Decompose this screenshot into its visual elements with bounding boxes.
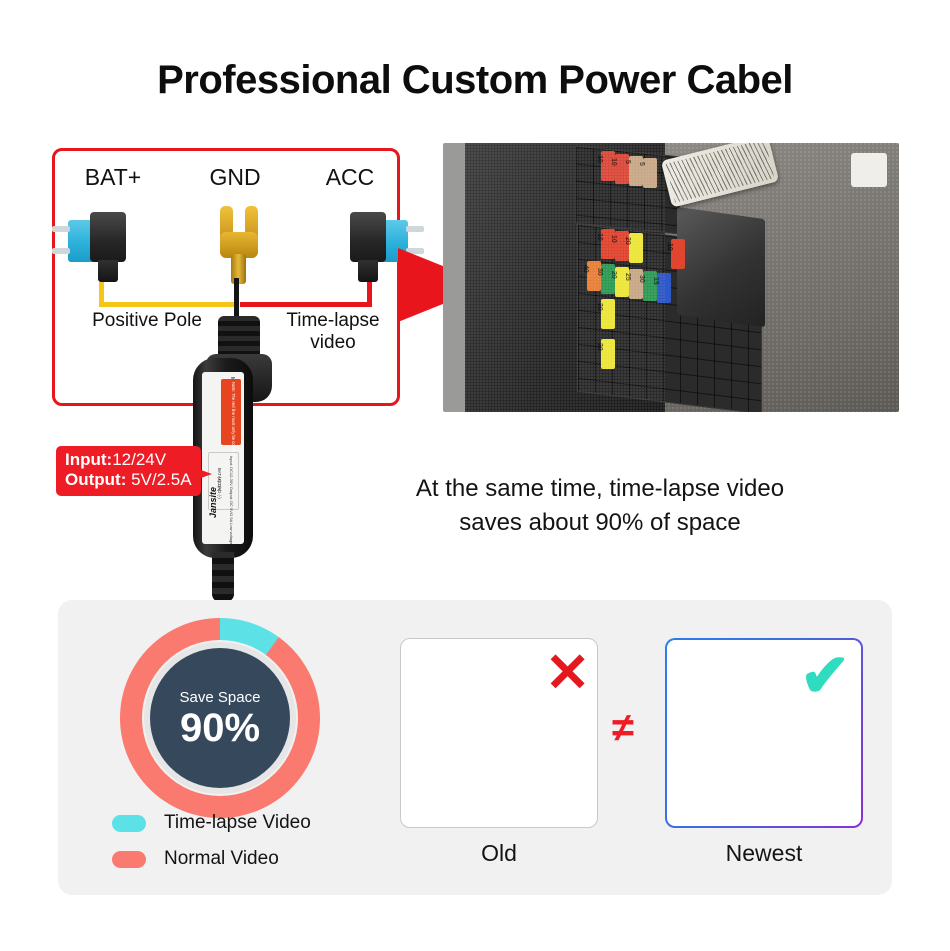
- blade-fuse: 10: [615, 154, 629, 184]
- label-time-lapse-video: Time-lapse video: [268, 310, 398, 354]
- module-pin-legend: BAT (+) ACC (+) GND (-): [223, 468, 238, 492]
- legend-item-normal: Normal Video: [112, 848, 311, 870]
- spec-badge-pointer: [190, 466, 212, 482]
- brand-logo-text: Jansite: [208, 487, 218, 518]
- input-spec-row: Input:12/24V: [65, 450, 192, 470]
- fuse-amp-label: 15: [652, 277, 659, 285]
- center-description-line2: saves about 90% of space: [350, 506, 850, 540]
- blade-fuse: 5: [629, 156, 643, 186]
- chart-legend: Time-lapse Video Normal Video: [112, 812, 311, 884]
- input-label: Input:: [65, 450, 112, 469]
- donut-center-label: Save Space: [180, 689, 261, 706]
- page-title: Professional Custom Power Cabel: [0, 58, 950, 103]
- spec-badge: Input:12/24V Output: 5V/2.5A: [56, 446, 201, 496]
- fuse-tap-bat: [62, 208, 146, 284]
- fuse-amp-label: 30: [638, 275, 645, 283]
- fuse-holder-body: [350, 212, 386, 262]
- not-equal-icon: ≠: [612, 706, 634, 751]
- terminal-label-acc: ACC: [300, 164, 400, 191]
- module-warning-note: Note: The red line must only be connecte…: [221, 379, 241, 445]
- donut-center: Save Space 90%: [150, 648, 290, 788]
- fuse-amp-label: 25: [624, 273, 631, 281]
- dashboard-clip: [851, 153, 887, 187]
- fuse-connector-neck: [358, 260, 378, 282]
- blade-fuse: 10: [601, 229, 615, 259]
- fuse-amp-label: 5: [624, 160, 631, 164]
- blade-fuse: 30: [601, 264, 615, 294]
- cable-segment-lower: [212, 552, 234, 602]
- car-fuse-box-photo: 101055101020104030202530152020: [443, 143, 899, 412]
- center-description: At the same time, time-lapse video saves…: [350, 472, 850, 540]
- fuse-amp-label: 5: [638, 162, 645, 166]
- save-space-donut-chart: Save Space 90%: [120, 618, 320, 818]
- label-positive-pole: Positive Pole: [52, 310, 242, 332]
- fuse-panel-housing: 101055101020104030202530152020: [465, 143, 665, 412]
- fuse-amp-label: 10: [596, 155, 603, 163]
- donut-center-value: 90%: [180, 708, 260, 748]
- fuse-amp-label: 40: [582, 265, 589, 273]
- output-spec-row: Output: 5V/2.5A: [65, 470, 192, 490]
- blade-fuse: 20: [601, 339, 615, 369]
- wire-red-horizontal: [240, 302, 372, 307]
- blade-fuse: 10: [615, 231, 629, 261]
- blade-fuse: 30: [643, 271, 657, 301]
- fuse-amp-label: 10: [610, 235, 617, 243]
- terminal-label-bat: BAT+: [58, 164, 168, 191]
- caption-old: Old: [400, 840, 598, 867]
- cross-icon: ✕: [545, 646, 590, 700]
- legend-swatch-normal: [112, 851, 146, 868]
- infographic-page: Professional Custom Power Cabel BAT+ GND…: [0, 0, 950, 951]
- power-adapter-module: Model: Z03 Note: The red line must only …: [193, 358, 253, 558]
- check-icon: ✔: [800, 646, 850, 706]
- output-value: 5V/2.5A: [126, 470, 191, 489]
- fuse-amp-label: 20: [596, 343, 603, 351]
- legend-item-time-lapse: Time-lapse Video: [112, 812, 311, 834]
- fuse-holder-body: [90, 212, 126, 262]
- fuse-slot-grid-top: [575, 145, 680, 234]
- blade-fuse: 40: [587, 261, 601, 291]
- center-description-line1: At the same time, time-lapse video: [350, 472, 850, 506]
- output-label: Output:: [65, 470, 126, 489]
- legend-label-normal: Normal Video: [164, 848, 279, 870]
- blade-fuse: 10: [671, 239, 685, 269]
- fuse-amp-label: 20: [610, 271, 617, 279]
- ground-fork-terminal: [218, 206, 260, 286]
- blade-fuse: 20: [615, 267, 629, 297]
- fuse-amp-label: 30: [596, 268, 603, 276]
- wire-yellow-horizontal: [99, 302, 237, 307]
- fuse-amp-label: 10: [596, 233, 603, 241]
- blade-fuse: 20: [601, 299, 615, 329]
- module-label-sticker: Model: Z03 Note: The red line must only …: [202, 372, 244, 544]
- legend-label-time-lapse: Time-lapse Video: [164, 812, 311, 834]
- blade-fuse: 10: [601, 151, 615, 181]
- blade-fuse: 20: [629, 233, 643, 263]
- fuse-amp-label: 20: [624, 237, 631, 245]
- fuse-amp-label: 10: [610, 158, 617, 166]
- blade-fuse: 15: [657, 273, 671, 303]
- fuse-amp-label: 10: [666, 243, 673, 251]
- caption-newest: Newest: [665, 840, 863, 867]
- legend-swatch-time-lapse: [112, 815, 146, 832]
- fuse-amp-label: 20: [596, 303, 603, 311]
- fuse-connector-neck: [98, 260, 118, 282]
- blade-fuse: 25: [629, 269, 643, 299]
- wiring-connector-block: [677, 207, 765, 327]
- blade-fuse: 5: [643, 158, 657, 188]
- input-value: 12/24V: [112, 450, 166, 469]
- terminal-label-gnd: GND: [180, 164, 290, 191]
